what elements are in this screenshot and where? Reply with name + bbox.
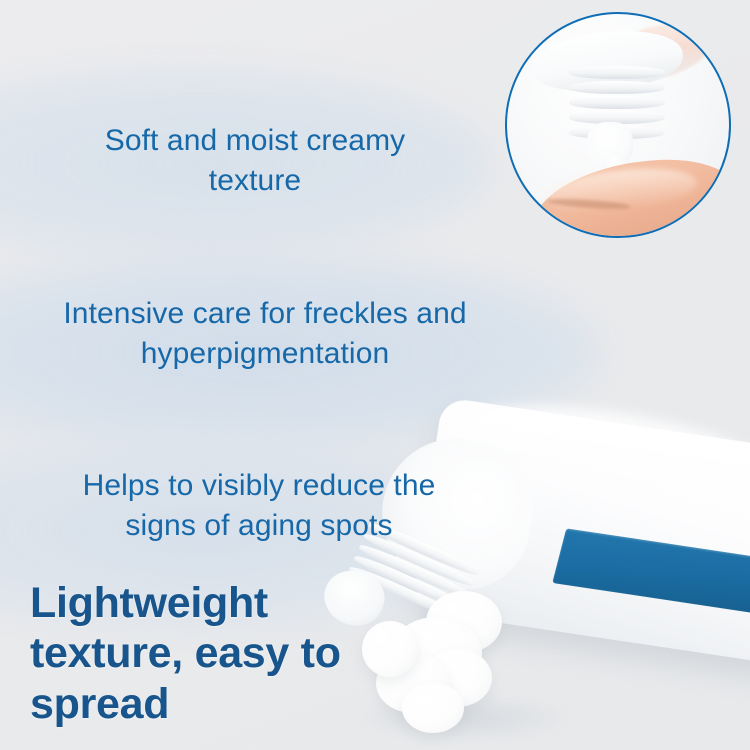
- benefit-aging-line-2: signs of aging spots: [125, 509, 392, 542]
- headline-line-2: texture, easy to: [30, 629, 341, 677]
- benefit-item-freckles: Intensive care for freckles and hyperpig…: [10, 294, 520, 374]
- benefit-freckles-line-1: Intensive care for freckles and: [63, 297, 466, 330]
- product-feature-graphic: Soft and moist creamy texture Intensive …: [0, 0, 750, 750]
- benefit-item-aging-spots: Helps to visibly reduce the signs of agi…: [4, 466, 514, 546]
- benefit-texture-line-2: texture: [209, 164, 301, 197]
- benefit-texture-line-1: Soft and moist creamy: [105, 124, 406, 157]
- headline-line-1: Lightweight: [30, 579, 268, 627]
- inset-scene: [507, 14, 729, 236]
- tube-label-stripe: [552, 528, 750, 617]
- headline: Lightweight texture, easy to spread: [30, 578, 430, 729]
- circular-inset-photo: [505, 12, 731, 238]
- benefit-item-texture: Soft and moist creamy texture: [0, 121, 510, 201]
- headline-line-3: spread: [30, 680, 169, 728]
- benefit-aging-line-1: Helps to visibly reduce the: [83, 469, 436, 502]
- benefit-freckles-line-2: hyperpigmentation: [141, 337, 390, 370]
